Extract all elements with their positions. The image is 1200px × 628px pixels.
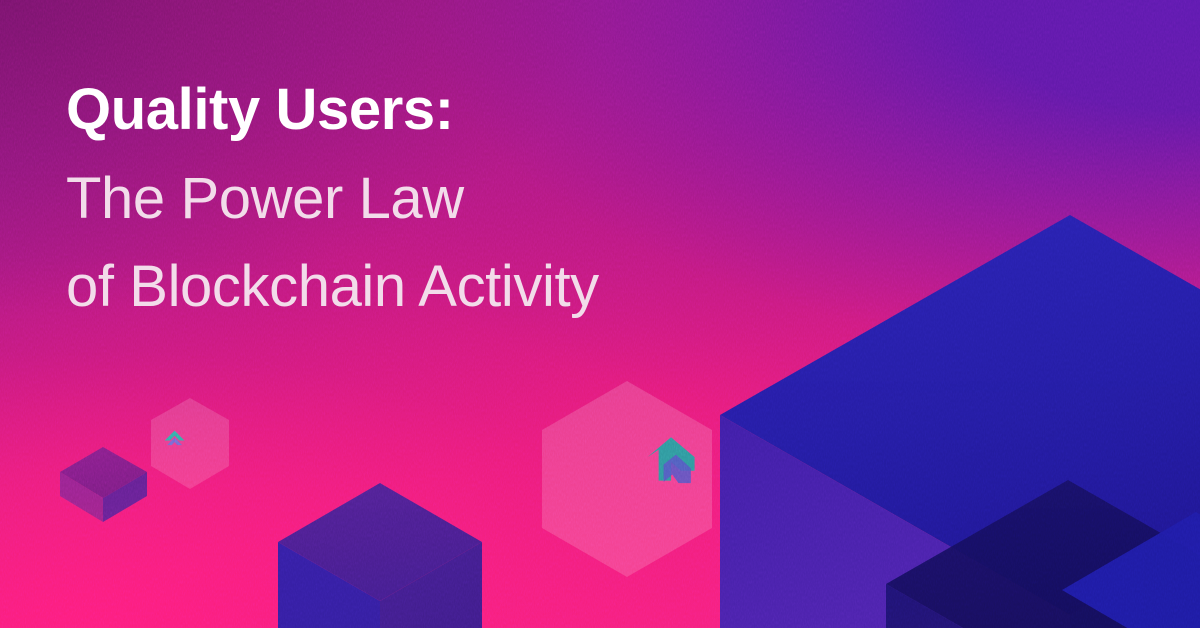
headline-line-3: of Blockchain Activity	[66, 243, 866, 332]
small-translucent-hexagon	[151, 398, 229, 489]
small-isometric-cube	[57, 440, 150, 527]
headline-line-1: Quality Users:	[66, 66, 866, 155]
mid-isometric-cube	[278, 483, 482, 628]
share-card: Quality Users: The Power Law of Blockcha…	[0, 0, 1200, 628]
large-translucent-hexagon	[542, 381, 712, 577]
small-hex-shape	[151, 398, 229, 489]
headline-block: Quality Users: The Power Law of Blockcha…	[66, 66, 866, 332]
headline-line-2: The Power Law	[66, 155, 866, 244]
